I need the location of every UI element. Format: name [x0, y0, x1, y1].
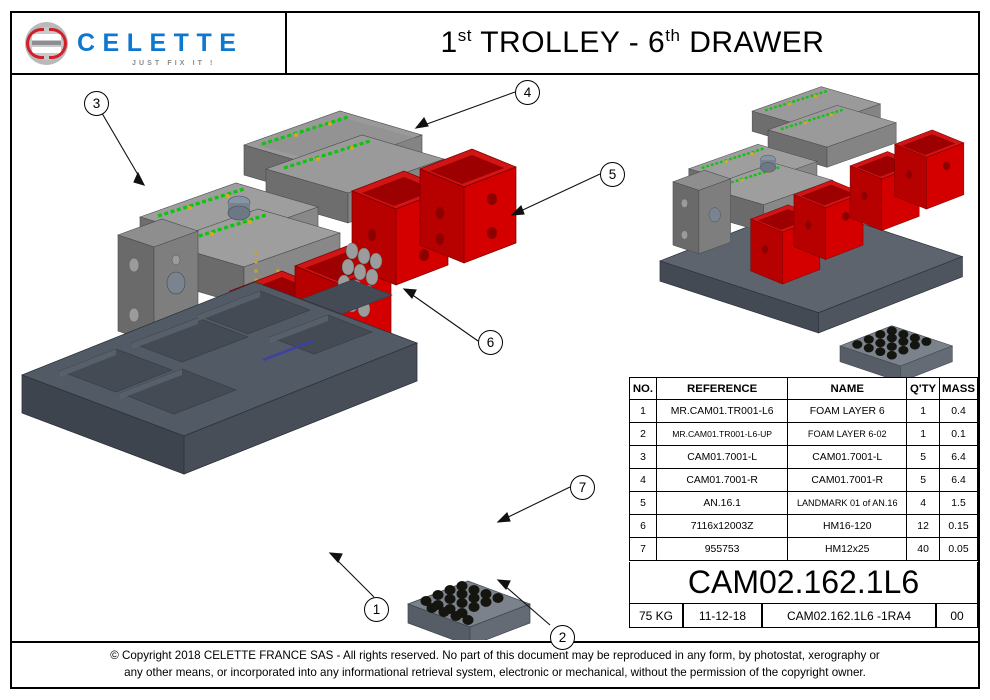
assembled-view-group	[660, 87, 964, 382]
cell-qty: 12	[907, 515, 940, 538]
cell-name: FOAM LAYER 6-02	[788, 423, 907, 446]
table-row[interactable]: 5 AN.16.1 LANDMARK 01 of AN.16 4 1.5	[630, 492, 978, 515]
brand-wordmark: CELETTE	[77, 31, 243, 56]
parts-table: NO. REFERENCE NAME Q'TY MASS 1 MR.CAM01.…	[629, 377, 978, 561]
copyright-line-1: © Copyright 2018 CELETTE FRANCE SAS - Al…	[110, 648, 880, 665]
cell-no: 4	[630, 469, 657, 492]
table-row[interactable]: 7 955753 HM12x25 40 0.05	[630, 538, 978, 561]
weight-value: 75 KG	[629, 604, 683, 628]
cell-mass: 0.4	[940, 400, 978, 423]
celette-circle-logo-icon	[25, 22, 68, 65]
page-title: 1st TROLLEY - 6th DRAWER	[441, 26, 825, 60]
cell-no: 1	[630, 400, 657, 423]
balloon-3[interactable]: 3	[84, 91, 109, 116]
balloon-7[interactable]: 7	[570, 475, 595, 500]
balloon-5[interactable]: 5	[600, 162, 625, 187]
revision-value: 00	[936, 604, 978, 628]
cell-name: CAM01.7001-L	[788, 446, 907, 469]
balloon-6[interactable]: 6	[478, 330, 503, 355]
balloon-4[interactable]: 4	[515, 80, 540, 105]
drawing-sheet: CELETTE JUST FIX IT ! 1st TROLLEY - 6th …	[0, 0, 990, 700]
cell-qty: 5	[907, 469, 940, 492]
table-row[interactable]: 2 MR.CAM01.TR001-L6-UP FOAM LAYER 6-02 1…	[630, 423, 978, 446]
balloon-1[interactable]: 1	[364, 597, 389, 622]
cell-qty: 4	[907, 492, 940, 515]
cell-qty: 1	[907, 400, 940, 423]
title-sup-1: st	[458, 26, 472, 45]
cell-no: 2	[630, 423, 657, 446]
bolt-tray-small	[408, 581, 530, 640]
title-end: DRAWER	[680, 26, 824, 59]
cell-name: FOAM LAYER 6	[788, 400, 907, 423]
cell-mass: 6.4	[940, 469, 978, 492]
table-row[interactable]: 6 7116x12003Z HM16-120 12 0.15	[630, 515, 978, 538]
cell-mass: 0.1	[940, 423, 978, 446]
cell-no: 5	[630, 492, 657, 515]
cell-qty: 40	[907, 538, 940, 561]
balloon-2[interactable]: 2	[550, 625, 575, 650]
col-qty: Q'TY	[907, 378, 940, 400]
cell-reference: MR.CAM01.TR001-L6-UP	[656, 423, 787, 446]
cell-mass: 0.15	[940, 515, 978, 538]
file-code-value: CAM02.162.1L6 -1RA4	[762, 604, 936, 628]
table-row[interactable]: 3 CAM01.7001-L CAM01.7001-L 5 6.4	[630, 446, 978, 469]
table-row[interactable]: 4 CAM01.7001-R CAM01.7001-R 5 6.4	[630, 469, 978, 492]
cell-qty: 1	[907, 423, 940, 446]
title-bar: CELETTE JUST FIX IT ! 1st TROLLEY - 6th …	[12, 13, 978, 75]
logo-cell: CELETTE JUST FIX IT !	[12, 13, 287, 73]
cell-reference: 955753	[656, 538, 787, 561]
col-no: NO.	[630, 378, 657, 400]
cell-name: HM12x25	[788, 538, 907, 561]
cell-reference: AN.16.1	[656, 492, 787, 515]
col-mass: MASS	[940, 378, 978, 400]
cell-no: 7	[630, 538, 657, 561]
cell-name: HM16-120	[788, 515, 907, 538]
exploded-assembly-group	[22, 111, 530, 640]
title-mid: TROLLEY -	[472, 26, 648, 59]
cell-reference: 7116x12003Z	[656, 515, 787, 538]
cell-mass: 1.5	[940, 492, 978, 515]
title-block: 75 KG 11-12-18 CAM02.162.1L6 -1RA4 00	[629, 604, 978, 628]
copyright-footer: © Copyright 2018 CELETTE FRANCE SAS - Al…	[12, 641, 978, 687]
cell-no: 3	[630, 446, 657, 469]
table-row[interactable]: 1 MR.CAM01.TR001-L6 FOAM LAYER 6 1 0.4	[630, 400, 978, 423]
col-name: NAME	[788, 378, 907, 400]
brand-tagline: JUST FIX IT !	[132, 60, 215, 67]
date-value: 11-12-18	[683, 604, 762, 628]
cell-mass: 6.4	[940, 446, 978, 469]
cell-name: CAM01.7001-R	[788, 469, 907, 492]
title-part-1: 1	[441, 26, 458, 59]
cell-no: 6	[630, 515, 657, 538]
title-cell: 1st TROLLEY - 6th DRAWER	[287, 13, 978, 73]
drawing-body: 3 4 5 6 1 7 2 NO. REFERENCE NAME Q'TY MA…	[12, 75, 978, 640]
cell-reference: MR.CAM01.TR001-L6	[656, 400, 787, 423]
cell-reference: CAM01.7001-L	[656, 446, 787, 469]
cell-mass: 0.05	[940, 538, 978, 561]
parts-table-header-row: NO. REFERENCE NAME Q'TY MASS	[630, 378, 978, 400]
copyright-line-2: any other means, or incorporated into an…	[124, 665, 866, 682]
title-part-2: 6	[648, 26, 665, 59]
cell-name: LANDMARK 01 of AN.16	[788, 492, 907, 515]
cell-reference: CAM01.7001-R	[656, 469, 787, 492]
title-sup-2: th	[665, 26, 680, 45]
drawing-number: CAM02.162.1L6	[629, 562, 978, 604]
cell-qty: 5	[907, 446, 940, 469]
col-reference: REFERENCE	[656, 378, 787, 400]
